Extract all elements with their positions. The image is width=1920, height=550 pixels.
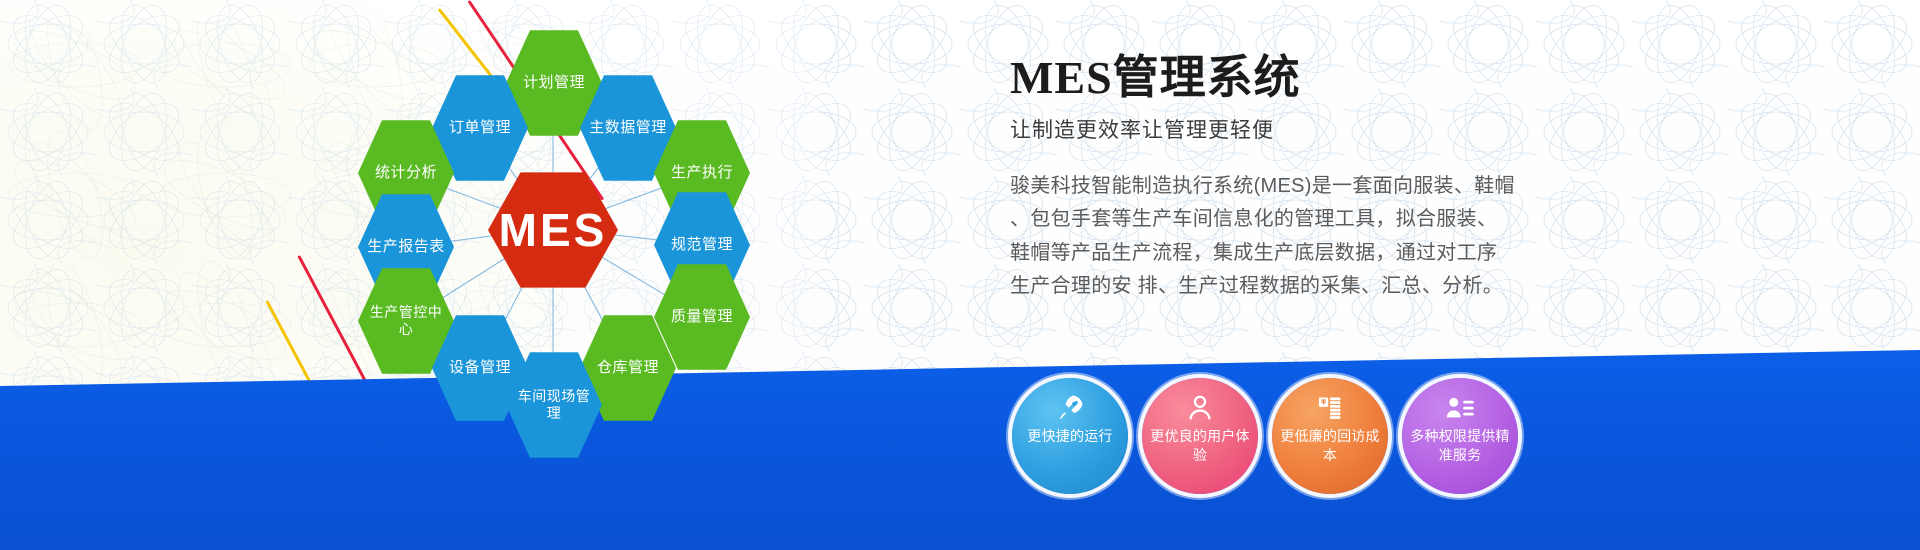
user-icon: [1183, 391, 1217, 425]
feature-badge-label: 更快捷的运行: [1018, 427, 1122, 446]
hex-node-label: 质量管理: [665, 308, 739, 326]
feature-badge-1[interactable]: 更快捷的运行: [1012, 378, 1128, 494]
feature-badge-label: 多种权限提供精准服务: [1408, 427, 1512, 465]
feature-badge-label: 更优良的用户体验: [1148, 427, 1252, 465]
hero-description-line-3: 鞋帽等产品生产流程，集成生产底层数据，通过对工序: [1010, 237, 1570, 271]
feature-badge-3[interactable]: 更低廉的回访成本: [1272, 378, 1388, 494]
hero-description-line-2: 、包包手套等生产车间信息化的管理工具，拟合服装、: [1010, 203, 1570, 237]
mes-core-label: MES: [493, 203, 614, 257]
banner-root: 计划管理订单管理主数据管理统计分析生产执行生产报告表规范管理生产管控中心质量管理…: [0, 0, 1920, 550]
hex-node-label: 仓库管理: [591, 359, 665, 377]
hero-description: 骏美科技智能制造执行系统(MES)是一套面向服装、鞋帽、包包手套等生产车间信息化…: [1010, 170, 1570, 304]
feature-badge-label: 更低廉的回访成本: [1278, 427, 1382, 465]
hex-node-label: 计划管理: [517, 74, 591, 92]
hex-node-label: 主数据管理: [583, 119, 673, 137]
hex-node-label: 生产执行: [665, 164, 739, 182]
hero-description-line-4: 生产合理的安 排、生产过程数据的采集、汇总、分析。: [1010, 270, 1570, 304]
hero-description-line-1: 骏美科技智能制造执行系统(MES)是一套面向服装、鞋帽: [1010, 170, 1570, 204]
hex-node-label: 车间现场管理: [506, 388, 602, 421]
feature-badge-row: 更快捷的运行更优良的用户体验更低廉的回访成本多种权限提供精准服务: [1012, 378, 1518, 494]
mes-hexagon-diagram: 计划管理订单管理主数据管理统计分析生产执行生产报告表规范管理生产管控中心质量管理…: [0, 0, 820, 460]
hex-node-label: 规范管理: [665, 236, 739, 254]
rocket-icon: [1053, 391, 1087, 425]
hex-node-label: 统计分析: [369, 164, 443, 182]
hex-node-label: 订单管理: [443, 119, 517, 137]
page-subtitle: 让制造更效率让管理更轻便: [1010, 114, 1870, 144]
feature-badge-4[interactable]: 多种权限提供精准服务: [1402, 378, 1518, 494]
page-title: MES管理系统: [1010, 52, 1870, 104]
hex-node-label: 设备管理: [443, 359, 517, 377]
money-stack-icon: [1313, 391, 1347, 425]
hero-text-column: MES管理系统 让制造更效率让管理更轻便 骏美科技智能制造执行系统(MES)是一…: [1010, 52, 1870, 304]
feature-badge-2[interactable]: 更优良的用户体验: [1142, 378, 1258, 494]
hex-node-label: 生产管控中心: [358, 304, 454, 337]
user-list-icon: [1443, 391, 1477, 425]
hex-node-label: 生产报告表: [361, 238, 451, 256]
